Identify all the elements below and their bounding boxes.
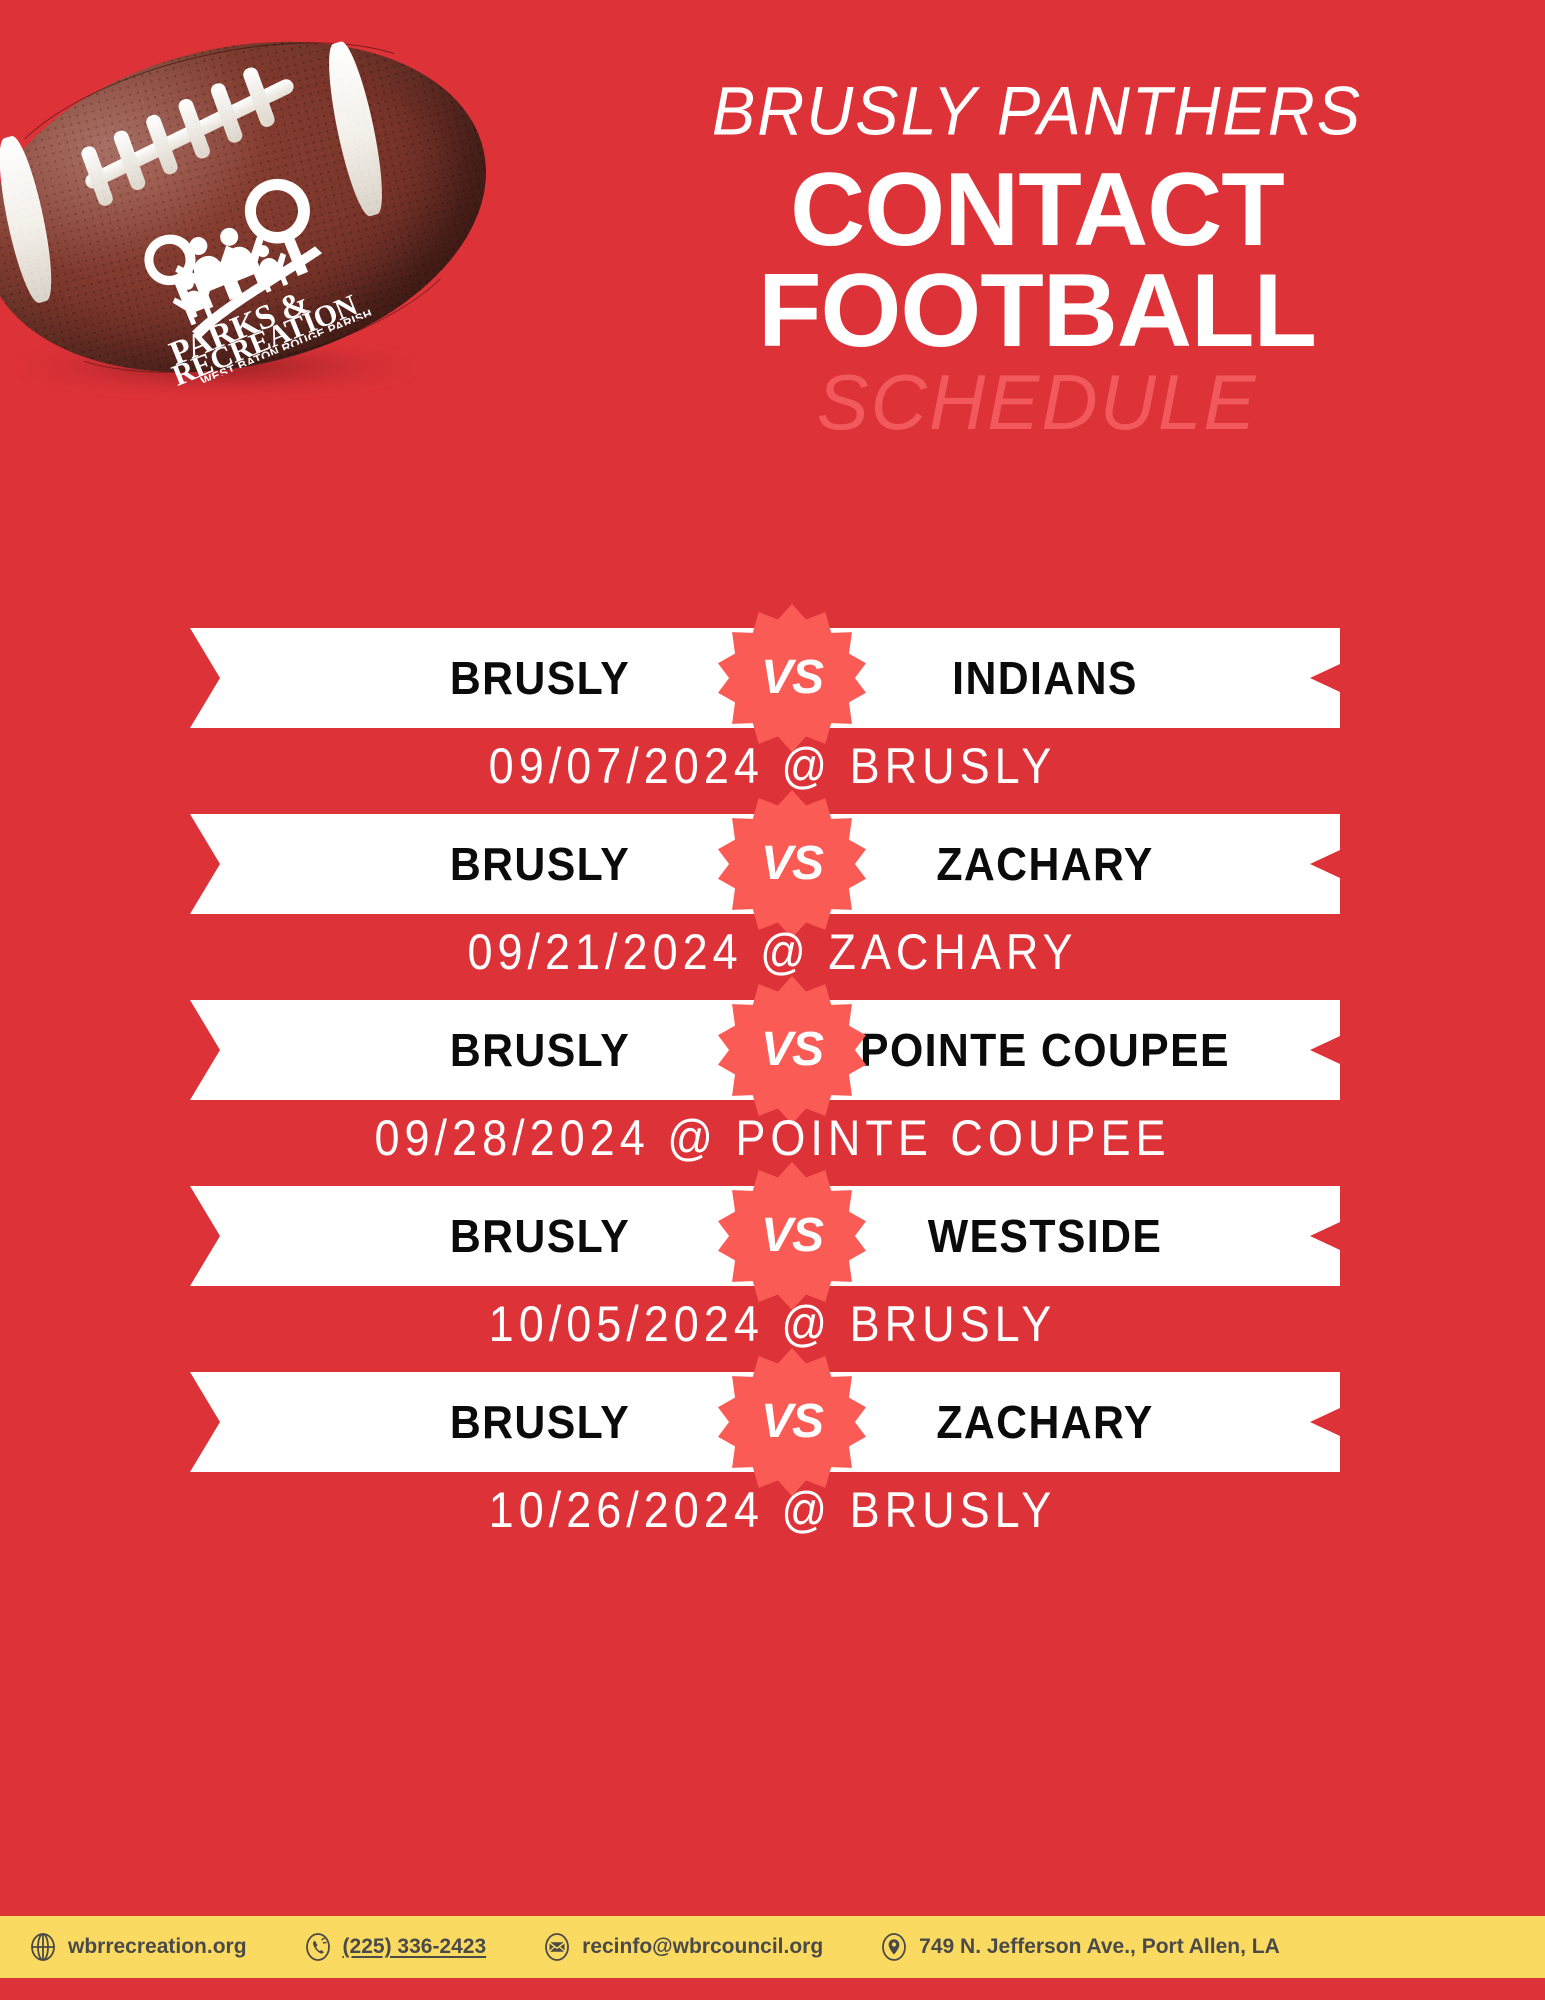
vs-label: VS: [761, 1394, 823, 1449]
home-team-label: BRUSLY: [308, 1395, 773, 1449]
footer-phone[interactable]: (225) 336-2423: [303, 1932, 487, 1962]
lace-stitch: [177, 97, 212, 160]
match-row: BRUSLY WESTSIDE VS 10/05/2024 @ BRUSLY: [0, 1186, 1545, 1372]
phone-icon: [303, 1932, 333, 1962]
vs-label: VS: [761, 650, 823, 705]
footer-website[interactable]: wbrrecreation.org: [28, 1932, 247, 1962]
lace-stitch: [80, 144, 115, 207]
home-team-label: BRUSLY: [308, 1209, 773, 1263]
away-team-label: ZACHARY: [808, 1395, 1282, 1449]
match-row: BRUSLY ZACHARY VS 09/21/2024 @ ZACHARY: [0, 814, 1545, 1000]
vs-label: VS: [761, 1022, 823, 1077]
lace-stitch: [112, 129, 147, 192]
vs-label: VS: [761, 836, 823, 891]
footer-address-text: 749 N. Jefferson Ave., Port Allen, LA: [919, 1935, 1280, 1959]
footer-phone-text: (225) 336-2423: [343, 1935, 487, 1959]
match-date-location: 10/26/2024 @ BRUSLY: [0, 1481, 1545, 1539]
away-team-label: ZACHARY: [808, 837, 1282, 891]
footer-email-text: recinfo@wbrcouncil.org: [582, 1935, 823, 1959]
match-date-location: 09/21/2024 @ ZACHARY: [0, 923, 1545, 981]
poster-title-line-2: FOOTBALL: [587, 258, 1487, 365]
lace-stitch: [144, 113, 179, 176]
contact-footer-bar: wbrrecreation.org (225) 336-2423: [0, 1916, 1545, 1978]
match-date-location: 09/28/2024 @ POINTE COUPEE: [0, 1109, 1545, 1167]
football-laces: [71, 53, 307, 213]
match-date-location: 09/07/2024 @ BRUSLY: [0, 737, 1545, 795]
home-team-label: BRUSLY: [308, 1023, 773, 1077]
match-row: BRUSLY ZACHARY VS 10/26/2024 @ BRUSLY: [0, 1372, 1545, 1558]
away-team-label: INDIANS: [808, 651, 1282, 705]
footer-email[interactable]: recinfo@wbrcouncil.org: [542, 1932, 823, 1962]
vs-label: VS: [761, 1208, 823, 1263]
footer-website-text: wbrrecreation.org: [68, 1935, 247, 1959]
home-team-label: BRUSLY: [308, 651, 773, 705]
match-row: BRUSLY INDIANS VS 09/07/2024 @ BRUSLY: [0, 628, 1545, 814]
title-block: BRUSLY PANTHERS CONTACT FOOTBALL SCHEDUL…: [587, 78, 1487, 441]
football-stripe-left: [0, 132, 60, 307]
footer-address[interactable]: 749 N. Jefferson Ave., Port Allen, LA: [879, 1932, 1280, 1962]
match-row: BRUSLY POINTE COUPEE VS 09/28/2024 @ POI…: [0, 1000, 1545, 1186]
envelope-icon: [542, 1932, 572, 1962]
globe-icon: [28, 1932, 58, 1962]
poster-header: PARKS & RECREATION WEST BATON ROUGE PARI…: [0, 0, 1545, 500]
football-seam-top: [0, 4, 468, 293]
poster-canvas: PARKS & RECREATION WEST BATON ROUGE PARI…: [0, 0, 1545, 2000]
football-illustration: PARKS & RECREATION WEST BATON ROUGE PARI…: [0, 40, 520, 400]
lace-spine: [83, 77, 296, 191]
away-team-label: WESTSIDE: [808, 1209, 1282, 1263]
footer-bottom-strip: [0, 1978, 1545, 2000]
lace-stitch: [241, 65, 276, 128]
poster-kicker: BRUSLY PANTHERS: [587, 76, 1487, 145]
poster-title-line-1: CONTACT: [587, 157, 1487, 264]
match-date-location: 10/05/2024 @ BRUSLY: [0, 1295, 1545, 1353]
vs-starburst-badge: VS: [718, 604, 866, 752]
map-pin-icon: [879, 1932, 909, 1962]
lace-stitch: [209, 81, 244, 144]
away-team-label: POINTE COUPEE: [808, 1023, 1282, 1077]
home-team-label: BRUSLY: [308, 837, 773, 891]
schedule-list: BRUSLY INDIANS VS 09/07/2024 @ BRUSLY BR…: [0, 628, 1545, 1558]
poster-subtitle: SCHEDULE: [587, 363, 1487, 441]
football-stripe-right: [320, 38, 391, 220]
